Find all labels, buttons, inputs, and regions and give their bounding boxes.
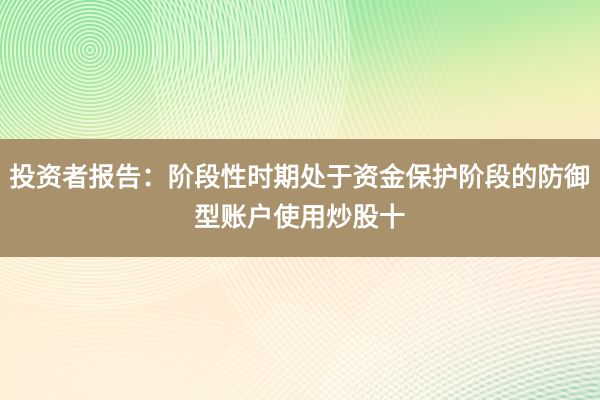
page-title-line-2: 型账户使用炒股十 — [194, 198, 405, 238]
title-band: 投资者报告：阶段性时期处于资金保护阶段的防御 型账户使用炒股十 — [0, 139, 600, 257]
title-card: 投资者报告：阶段性时期处于资金保护阶段的防御 型账户使用炒股十 — [0, 0, 600, 400]
page-title-line-1: 投资者报告：阶段性时期处于资金保护阶段的防御 — [10, 158, 591, 198]
